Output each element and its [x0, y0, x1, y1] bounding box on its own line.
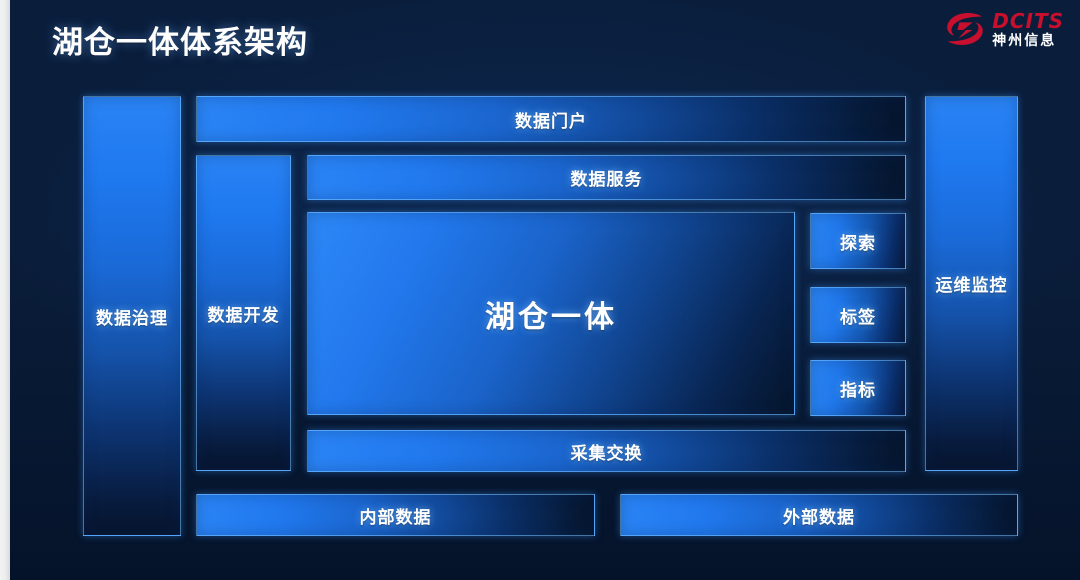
logo-wordmark-en: DCITS	[992, 11, 1064, 31]
block-external-data[interactable]: 外部数据	[620, 494, 1018, 536]
page-title: 湖仓一体体系架构	[52, 17, 308, 62]
block-ops-monitoring[interactable]: 运维监控	[925, 96, 1018, 471]
block-label: 指标	[840, 376, 876, 401]
block-label: 内部数据	[360, 503, 432, 528]
block-data-governance[interactable]: 数据治理	[83, 96, 181, 536]
logo-wordmark-cn: 神州信息	[992, 34, 1064, 48]
architecture-slide: 湖仓一体体系架构 DCITS 神州信息 数据治理 数据开发 运维监控 数据门户 …	[0, 0, 1080, 580]
block-label: 标签	[840, 303, 876, 328]
block-label: 采集交换	[571, 439, 643, 464]
block-label: 数据门户	[515, 107, 587, 132]
dcits-swirl-icon	[944, 10, 986, 48]
block-label: 湖仓一体	[485, 292, 617, 336]
block-data-portal[interactable]: 数据门户	[196, 96, 906, 142]
block-metric[interactable]: 指标	[810, 360, 906, 416]
block-label: 数据开发	[208, 301, 280, 326]
block-lakehouse[interactable]: 湖仓一体	[307, 212, 795, 415]
block-explore[interactable]: 探索	[810, 213, 906, 269]
left-edge-strip	[0, 0, 10, 580]
block-tag[interactable]: 标签	[810, 287, 906, 343]
block-data-development[interactable]: 数据开发	[196, 155, 291, 471]
block-data-service[interactable]: 数据服务	[307, 155, 906, 200]
block-label: 数据服务	[571, 165, 643, 190]
block-label: 数据治理	[96, 304, 168, 329]
block-collect-exchange[interactable]: 采集交换	[307, 430, 906, 472]
brand-logo: DCITS 神州信息	[944, 10, 1064, 48]
block-internal-data[interactable]: 内部数据	[196, 494, 595, 536]
block-label: 探索	[840, 229, 876, 254]
block-label: 外部数据	[783, 503, 855, 528]
block-label: 运维监控	[936, 271, 1008, 296]
